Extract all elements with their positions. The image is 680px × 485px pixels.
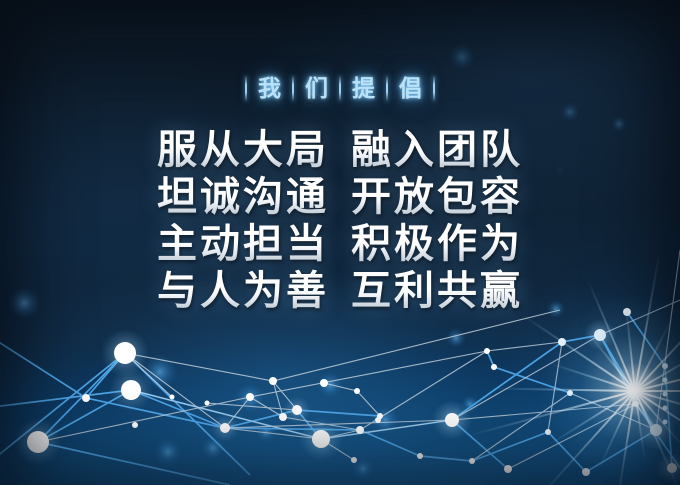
slogan-block: 服从大局 融入团队 坦诚沟通 开放包容 主动担当 积极作为 与人为善 互利共赢 bbox=[0, 126, 680, 314]
slogan-line-2-right: 开放包容 bbox=[351, 173, 523, 220]
header-tagline: 我 们 提 倡 bbox=[0, 76, 680, 101]
slogan-line: 坦诚沟通 开放包容 bbox=[157, 173, 523, 220]
header-separator-icon bbox=[433, 76, 435, 101]
slogan-line-1-right: 融入团队 bbox=[351, 126, 523, 173]
slogan-line: 与人为善 互利共赢 bbox=[157, 267, 523, 314]
header-separator-icon bbox=[245, 76, 247, 101]
slogan-line: 服从大局 融入团队 bbox=[157, 126, 523, 173]
header-separator-icon bbox=[292, 76, 294, 101]
slogan-line-3-left: 主动担当 bbox=[157, 220, 329, 267]
header-char-1: 我 bbox=[258, 77, 281, 100]
slogan-line-3-right: 积极作为 bbox=[351, 220, 523, 267]
network-edges-blue bbox=[0, 312, 680, 485]
slogan-line-1-left: 服从大局 bbox=[157, 126, 329, 173]
slogan-line: 主动担当 积极作为 bbox=[157, 220, 523, 267]
slogan-line-4-right: 互利共赢 bbox=[351, 267, 523, 314]
header-separator-icon bbox=[339, 76, 341, 101]
slogan-line-2-left: 坦诚沟通 bbox=[157, 173, 329, 220]
header-char-2: 们 bbox=[305, 77, 328, 100]
header-char-3: 提 bbox=[352, 77, 375, 100]
poster-canvas: 我 们 提 倡 服从大局 融入团队 坦诚沟通 开放包容 主动担当 积极作为 与人… bbox=[0, 0, 680, 485]
slogan-line-4-left: 与人为善 bbox=[157, 267, 329, 314]
header-char-4: 倡 bbox=[399, 77, 422, 100]
header-separator-icon bbox=[386, 76, 388, 101]
